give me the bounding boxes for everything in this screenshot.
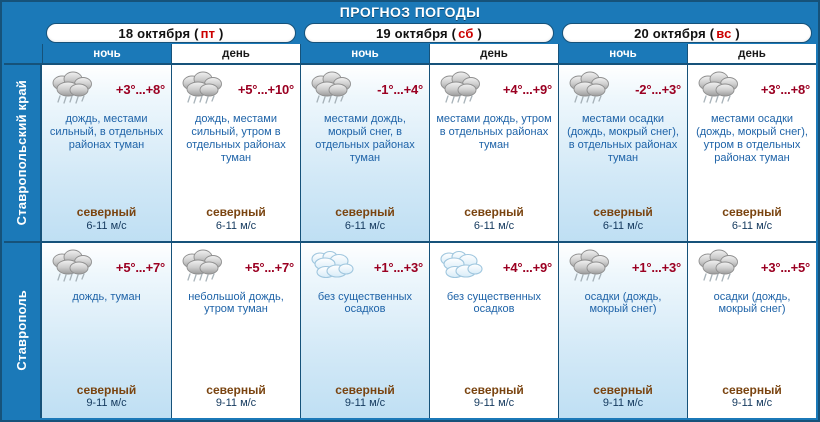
wind-block: северный9-11 м/с (176, 384, 296, 410)
wind-block: северный9-11 м/с (692, 384, 812, 410)
cloud-rain-icon (305, 69, 361, 109)
wind-block: северный9-11 м/с (563, 384, 683, 410)
temperature-range: +4°...+9° (503, 69, 554, 97)
wind-block: северный6-11 м/с (305, 206, 425, 232)
daypart-header-0[interactable]: ночь (42, 44, 171, 63)
cell-top: -1°...+4° (305, 69, 425, 111)
temperature-range: +5°...+7° (116, 247, 167, 275)
grid-corner-sub (4, 44, 42, 63)
day-of-week: сб (458, 26, 474, 41)
paren-close: ) (477, 26, 482, 41)
daypart-header-5[interactable]: день (687, 44, 816, 63)
cell-top: +4°...+9° (434, 247, 554, 289)
cell-top: +5°...+10° (176, 69, 296, 111)
temperature-range: +3°...+8° (116, 69, 167, 97)
phenomena-text: дождь, местами сильный, утром в отдельны… (176, 113, 296, 165)
wind-speed: 9-11 м/с (176, 397, 296, 410)
daypart-header-4[interactable]: ночь (558, 44, 687, 63)
grid-corner-top (4, 22, 42, 44)
cell-top: +1°...+3° (305, 247, 425, 289)
forecast-cell: +1°...+3°без существенных осадковсеверны… (300, 243, 429, 419)
wind-block: северный6-11 м/с (563, 206, 683, 232)
wind-direction: северный (46, 206, 167, 220)
paren-close: ) (735, 26, 740, 41)
forecast-cell: +3°...+8°дождь, местами сильный, в отдел… (42, 65, 171, 241)
wind-block: северный6-11 м/с (46, 206, 167, 232)
wind-direction: северный (563, 384, 683, 398)
title-bar: ПРОГНОЗ ПОГОДЫ (2, 2, 818, 22)
forecast-cell: -1°...+4°местами дождь, мокрый снег, в о… (300, 65, 429, 241)
date-pill-0[interactable]: 18 октября (пт ) (46, 23, 296, 43)
wind-speed: 9-11 м/с (563, 397, 683, 410)
phenomena-text: дождь, туман (46, 291, 167, 304)
cell-top: +3°...+8° (692, 69, 812, 111)
cloud-rain-icon (46, 69, 102, 109)
cloud-rain-icon (692, 69, 748, 109)
forecast-cell: +3°...+8°местами осадки (дождь, мокрый с… (687, 65, 816, 241)
wind-direction: северный (305, 206, 425, 220)
cloud-rain-icon (46, 247, 102, 287)
forecast-cell: +4°...+9°местами дождь, утром в отдельны… (429, 65, 558, 241)
temperature-range: +5°...+10° (238, 69, 296, 97)
date-text: 18 октября (118, 26, 190, 41)
cloud-rain-icon (176, 247, 232, 287)
forecast-row-0: +3°...+8°дождь, местами сильный, в отдел… (42, 63, 816, 241)
forecast-row-1: +5°...+7°дождь, тумансеверный9-11 м/с+5°… (42, 241, 816, 419)
wind-speed: 6-11 м/с (305, 220, 425, 233)
temperature-range: +3°...+8° (761, 69, 812, 97)
phenomena-text: местами осадки (дождь, мокрый снег), в о… (563, 113, 683, 165)
wind-direction: северный (305, 384, 425, 398)
wind-speed: 6-11 м/с (434, 220, 554, 233)
clouds-icon (305, 247, 361, 287)
cloud-rain-icon (563, 247, 619, 287)
date-pill-2[interactable]: 20 октября (вс ) (562, 23, 812, 43)
date-text: 20 октября (634, 26, 706, 41)
wind-speed: 6-11 м/с (692, 220, 812, 233)
cell-top: +3°...+5° (692, 247, 812, 289)
cloud-rain-icon (692, 247, 748, 287)
wind-direction: северный (563, 206, 683, 220)
wind-speed: 6-11 м/с (563, 220, 683, 233)
clouds-icon (434, 247, 490, 287)
date-text: 19 октября (376, 26, 448, 41)
forecast-grid: 18 октября (пт )19 октября (сб )20 октяб… (4, 22, 816, 418)
temperature-range: -1°...+4° (377, 69, 425, 97)
phenomena-text: небольшой дождь, утром туман (176, 291, 296, 317)
wind-direction: северный (434, 206, 554, 220)
region-name: Ставропольский край (15, 80, 29, 225)
paren-close: ) (219, 26, 224, 41)
region-label-1: Ставрополь (4, 241, 42, 419)
cell-top: +5°...+7° (46, 247, 167, 289)
forecast-cell: +1°...+3°осадки (дождь, мокрый снег)севе… (558, 243, 687, 419)
daypart-header-row: ночьденьночьденьночьдень (42, 44, 816, 63)
page-title: ПРОГНОЗ ПОГОДЫ (2, 4, 818, 20)
forecast-cell: +5°...+7°небольшой дождь, утром тумансев… (171, 243, 300, 419)
forecast-cell: +3°...+5°осадки (дождь, мокрый снег)севе… (687, 243, 816, 419)
wind-direction: северный (176, 384, 296, 398)
weather-forecast-widget: ПРОГНОЗ ПОГОДЫ 18 октября (пт )19 октябр… (0, 0, 820, 422)
wind-block: северный6-11 м/с (692, 206, 812, 232)
date-header-row: 18 октября (пт )19 октября (сб )20 октяб… (42, 22, 816, 44)
region-name: Ставрополь (15, 290, 29, 371)
cell-top: -2°...+3° (563, 69, 683, 111)
temperature-range: +5°...+7° (245, 247, 296, 275)
daypart-header-3[interactable]: день (429, 44, 558, 63)
wind-block: северный6-11 м/с (176, 206, 296, 232)
cell-top: +4°...+9° (434, 69, 554, 111)
wind-block: северный9-11 м/с (434, 384, 554, 410)
phenomena-text: местами дождь, мокрый снег, в отдельных … (305, 113, 425, 165)
cell-top: +3°...+8° (46, 69, 167, 111)
day-of-week: пт (201, 26, 216, 41)
cloud-rain-icon (563, 69, 619, 109)
phenomena-text: осадки (дождь, мокрый снег) (563, 291, 683, 317)
date-pill-1[interactable]: 19 октября (сб ) (304, 23, 554, 43)
phenomena-text: местами осадки (дождь, мокрый снег), утр… (692, 113, 812, 165)
wind-direction: северный (434, 384, 554, 398)
paren-open: ( (194, 26, 199, 41)
paren-open: ( (452, 26, 457, 41)
daypart-header-2[interactable]: ночь (300, 44, 429, 63)
wind-direction: северный (176, 206, 296, 220)
temperature-range: +1°...+3° (632, 247, 683, 275)
wind-speed: 6-11 м/с (176, 220, 296, 233)
wind-speed: 9-11 м/с (434, 397, 554, 410)
temperature-range: +3°...+5° (761, 247, 812, 275)
wind-block: северный6-11 м/с (434, 206, 554, 232)
phenomena-text: без существенных осадков (434, 291, 554, 317)
daypart-header-1[interactable]: день (171, 44, 300, 63)
paren-open: ( (710, 26, 715, 41)
wind-speed: 6-11 м/с (46, 220, 167, 233)
temperature-range: -2°...+3° (635, 69, 683, 97)
phenomena-text: местами дождь, утром в отдельных районах… (434, 113, 554, 152)
temperature-range: +1°...+3° (374, 247, 425, 275)
cloud-rain-icon (176, 69, 232, 109)
phenomena-text: дождь, местами сильный, в отдельных райо… (46, 113, 167, 152)
phenomena-text: без существенных осадков (305, 291, 425, 317)
cell-top: +1°...+3° (563, 247, 683, 289)
day-of-week: вс (716, 26, 731, 41)
forecast-cell: +4°...+9°без существенных осадковсеверны… (429, 243, 558, 419)
temperature-range: +4°...+9° (503, 247, 554, 275)
forecast-cell: +5°...+7°дождь, тумансеверный9-11 м/с (42, 243, 171, 419)
wind-speed: 9-11 м/с (46, 397, 167, 410)
forecast-cell: +5°...+10°дождь, местами сильный, утром … (171, 65, 300, 241)
wind-speed: 9-11 м/с (692, 397, 812, 410)
wind-speed: 9-11 м/с (305, 397, 425, 410)
wind-block: северный9-11 м/с (46, 384, 167, 410)
wind-direction: северный (692, 384, 812, 398)
wind-direction: северный (46, 384, 167, 398)
region-label-0: Ставропольский край (4, 63, 42, 241)
forecast-cell: -2°...+3°местами осадки (дождь, мокрый с… (558, 65, 687, 241)
cloud-rain-icon (434, 69, 490, 109)
wind-block: северный9-11 м/с (305, 384, 425, 410)
cell-top: +5°...+7° (176, 247, 296, 289)
phenomena-text: осадки (дождь, мокрый снег) (692, 291, 812, 317)
wind-direction: северный (692, 206, 812, 220)
